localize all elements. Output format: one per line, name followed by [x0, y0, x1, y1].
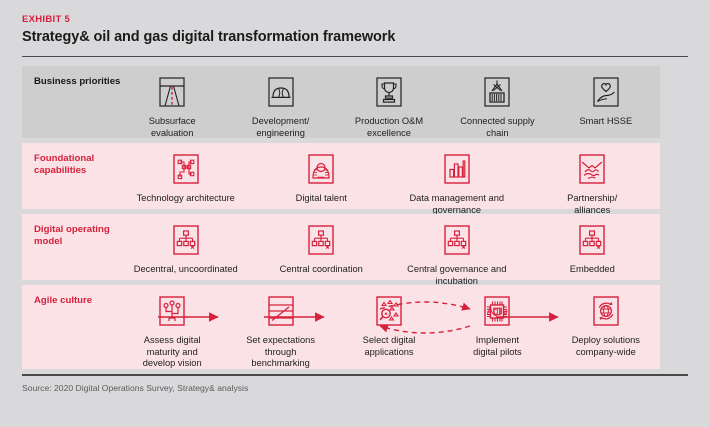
item-caption: Select digital applications — [363, 335, 416, 358]
row-business-priorities: Business priorities Subsurface evaluatio… — [22, 66, 660, 138]
hard-hat-icon — [266, 75, 296, 109]
item-caption: Connected supply chain — [460, 116, 534, 139]
source-note: Source: 2020 Digital Operations Survey, … — [22, 383, 688, 394]
heart-in-hand-icon — [591, 75, 621, 109]
item-assess-digital-maturity[interactable]: Assess digital maturity and develop visi… — [118, 285, 226, 369]
exhibit-number: EXHIBIT 5 — [22, 14, 688, 26]
trophy-icon — [374, 75, 404, 109]
org-chart-icon — [306, 223, 336, 257]
org-chart-icon — [577, 223, 607, 257]
item-implement-digital-pilots[interactable]: Implement digital pilots — [443, 285, 551, 358]
item-caption: Central governance and incubation — [407, 264, 506, 287]
item-caption: Data management and governance — [409, 193, 504, 216]
item-caption: Set expectations through benchmarking — [246, 335, 315, 369]
item-caption: Partnership/ alliances — [567, 193, 617, 216]
item-decentral-uncoordinated[interactable]: Decentral, uncoordinated — [118, 214, 254, 275]
row-label-digital-operating-model: Digital operating model — [34, 224, 124, 247]
row-label-business-priorities: Business priorities — [34, 76, 124, 88]
row-digital-operating-model: Digital operating model — [22, 214, 660, 280]
exhibit-container: EXHIBIT 5 Strategy& oil and gas digital … — [0, 0, 710, 427]
page-title: Strategy& oil and gas digital transforma… — [22, 28, 688, 47]
network-nodes-icon — [171, 152, 201, 186]
row-label-foundational-capabilities: Foundational capabilities — [34, 153, 124, 176]
row-agile-culture: Agile culture — [22, 285, 660, 369]
org-chart-icon — [171, 223, 201, 257]
globe-refresh-icon — [591, 294, 621, 328]
row-business-priorities-columns: Subsurface evaluation Development/ engin… — [118, 66, 660, 138]
item-caption: Central coordination — [280, 264, 363, 275]
exhibit-header: EXHIBIT 5 Strategy& oil and gas digital … — [0, 0, 710, 47]
item-connected-supply-chain[interactable]: Connected supply chain — [443, 66, 551, 139]
framework-rows: Business priorities Subsurface evaluatio… — [0, 66, 710, 369]
item-smart-hsse[interactable]: Smart HSSE — [552, 66, 660, 127]
item-caption: Decentral, uncoordinated — [134, 264, 238, 275]
item-caption: Deploy solutions company-wide — [572, 335, 640, 358]
trend-chart-icon — [266, 294, 296, 328]
person-binary-icon — [306, 152, 336, 186]
item-deploy-solutions-company-wide[interactable]: Deploy solutions company-wide — [552, 285, 660, 358]
footer-divider — [22, 374, 688, 375]
circuit-tree-icon — [157, 294, 187, 328]
item-data-management-governance[interactable]: Data management and governance — [389, 143, 525, 216]
item-caption: Assess digital maturity and develop visi… — [143, 335, 202, 369]
item-caption: Embedded — [570, 264, 615, 275]
handshake-icon — [577, 152, 607, 186]
bar-chart-icon — [442, 152, 472, 186]
item-embedded[interactable]: Embedded — [525, 214, 661, 275]
item-set-expectations[interactable]: Set expectations through benchmarking — [226, 285, 334, 369]
item-caption: Subsurface evaluation — [149, 116, 196, 139]
item-production-om-excellence[interactable]: Production O&M excellence — [335, 66, 443, 139]
item-central-coordination[interactable]: Central coordination — [254, 214, 390, 275]
item-caption: Technology architecture — [137, 193, 235, 204]
item-select-digital-applications[interactable]: Select digital applications Agile — [335, 285, 443, 358]
row-foundational-capabilities: Foundational capabilities — [22, 143, 660, 209]
item-development-engineering[interactable]: Development/ engineering — [226, 66, 334, 139]
magnifier-triangles-icon — [374, 294, 404, 328]
item-caption: Development/ engineering — [252, 116, 309, 139]
row-foundational-capabilities-columns: Technology architecture — [118, 143, 660, 209]
item-subsurface-evaluation[interactable]: Subsurface evaluation — [118, 66, 226, 139]
item-caption: Digital talent — [296, 193, 347, 204]
microchip-icon — [482, 294, 512, 328]
item-partnership-alliances[interactable]: Partnership/ alliances — [525, 143, 661, 216]
item-central-governance-incubation[interactable]: Central governance and incubation — [389, 214, 525, 287]
row-digital-operating-model-columns: Decentral, uncoordinated — [118, 214, 660, 280]
item-digital-talent[interactable]: Digital talent — [254, 143, 390, 204]
row-agile-culture-columns: Assess digital maturity and develop visi… — [118, 285, 660, 369]
road-perspective-icon — [157, 75, 187, 109]
item-caption: Smart HSSE — [579, 116, 632, 127]
header-divider — [22, 56, 688, 57]
item-caption: Implement digital pilots — [473, 335, 522, 358]
shipping-container-crane-icon — [482, 75, 512, 109]
item-technology-architecture[interactable]: Technology architecture — [118, 143, 254, 204]
item-caption: Production O&M excellence — [355, 116, 423, 139]
org-chart-icon — [442, 223, 472, 257]
